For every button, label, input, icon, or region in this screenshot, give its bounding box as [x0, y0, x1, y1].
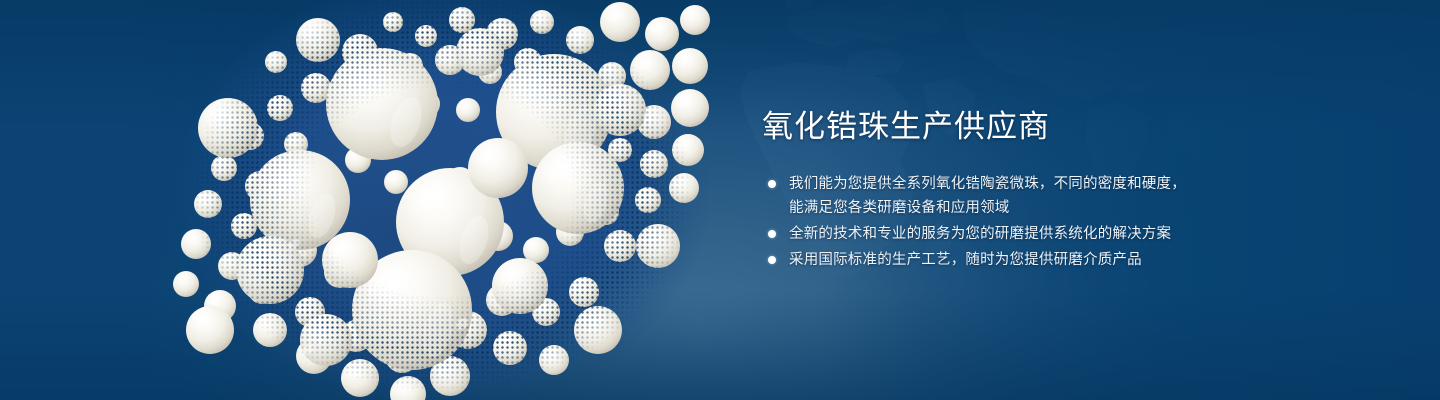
bead-cluster: [150, 0, 710, 400]
list-item: 全新的技术和专业的服务为您的研磨提供系统化的解决方案: [762, 222, 1282, 246]
list-item-line-1: 我们能为您提供全系列氧化锆陶瓷微珠，不同的密度和硬度，: [789, 172, 1282, 196]
list-item: 采用国际标准的生产工艺，随时为您提供研磨介质产品: [762, 248, 1282, 272]
banner-copy: 氧化锆珠生产供应商 我们能为您提供全系列氧化锆陶瓷微珠，不同的密度和硬度， 能满…: [762, 108, 1282, 274]
list-item-line-2: 能满足您各类研磨设备和应用领域: [789, 196, 1282, 220]
list-item-line-1: 全新的技术和专业的服务为您的研磨提供系统化的解决方案: [789, 222, 1282, 246]
bullet-dot-icon: [768, 180, 776, 188]
zirconia-beads-photo: [150, 0, 710, 400]
hero-banner: 氧化锆珠生产供应商 我们能为您提供全系列氧化锆陶瓷微珠，不同的密度和硬度， 能满…: [0, 0, 1440, 400]
list-item: 我们能为您提供全系列氧化锆陶瓷微珠，不同的密度和硬度， 能满足您各类研磨设备和应…: [762, 172, 1282, 220]
page-title: 氧化锆珠生产供应商: [762, 108, 1282, 146]
feature-list: 我们能为您提供全系列氧化锆陶瓷微珠，不同的密度和硬度， 能满足您各类研磨设备和应…: [762, 172, 1282, 272]
bullet-dot-icon: [768, 230, 776, 238]
bullet-dot-icon: [768, 256, 776, 264]
list-item-line-1: 采用国际标准的生产工艺，随时为您提供研磨介质产品: [789, 248, 1282, 272]
